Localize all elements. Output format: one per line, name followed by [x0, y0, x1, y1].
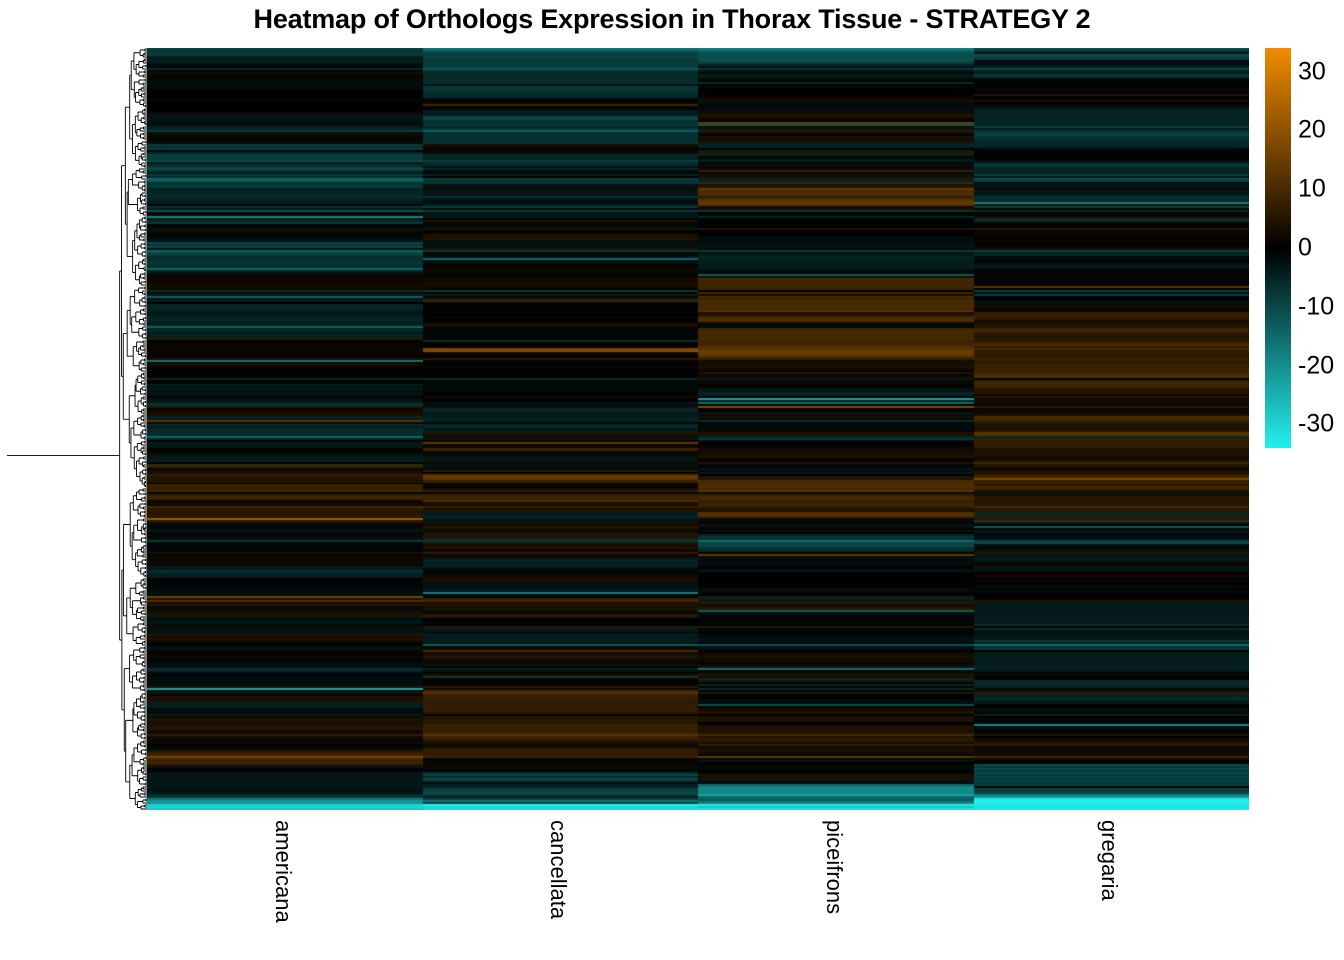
column-label-gregaria: gregaria — [1096, 820, 1122, 960]
heatmap-canvas[interactable] — [147, 48, 1249, 810]
column-label-cancellata: cancellata — [545, 820, 571, 960]
colorbar-tick-label: 0 — [1298, 234, 1312, 263]
page-title: Heatmap of Orthologs Expression in Thora… — [0, 4, 1344, 35]
colorbar-tick-label: -30 — [1298, 410, 1334, 439]
colorbar-tick-label: -20 — [1298, 351, 1334, 380]
heatmap-figure: Heatmap of Orthologs Expression in Thora… — [0, 0, 1344, 960]
row-dendrogram — [0, 48, 147, 810]
row-dendrogram-svg — [0, 48, 147, 810]
colorbar: 3020100-10-20-30 — [1265, 48, 1344, 458]
colorbar-tick-label: -10 — [1298, 292, 1334, 321]
colorbar-tick-label: 20 — [1298, 116, 1326, 145]
colorbar-tick-label: 10 — [1298, 175, 1326, 204]
colorbar-tick-label: 30 — [1298, 57, 1326, 86]
colorbar-gradient — [1265, 48, 1291, 448]
column-label-group: americanacancellatapiceifronsgregaria — [147, 812, 1249, 960]
heatmap-grid[interactable] — [147, 48, 1249, 810]
column-label-americana: americana — [270, 820, 296, 960]
column-label-piceifrons: piceifrons — [821, 820, 847, 960]
dendrogram-branches — [7, 49, 147, 809]
